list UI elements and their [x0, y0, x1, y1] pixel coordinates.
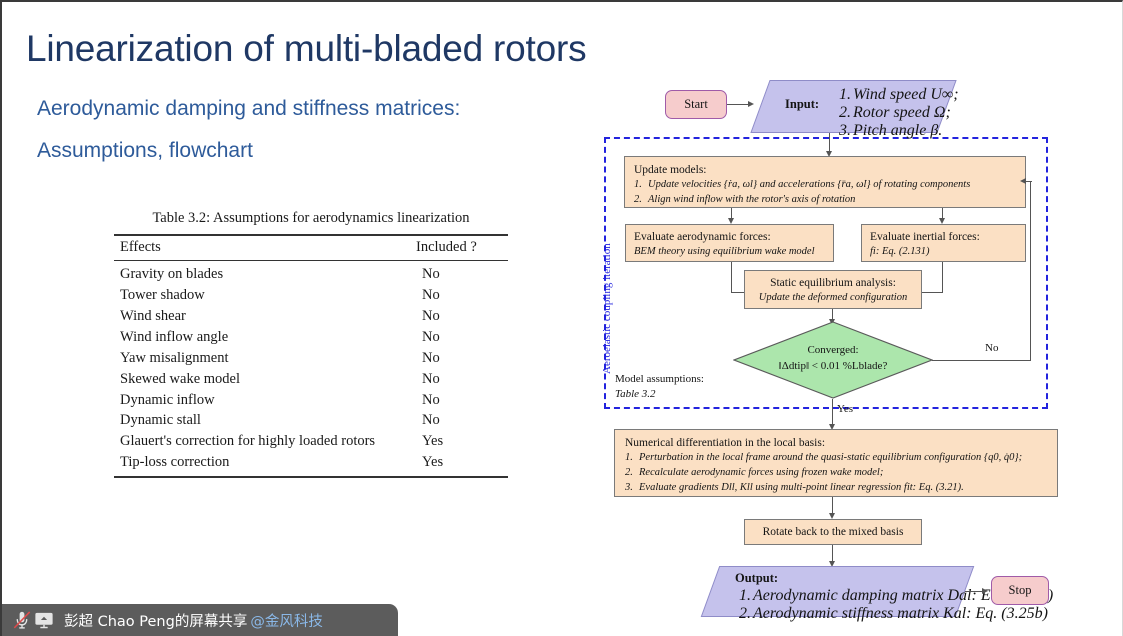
cell-effect: Skewed wake model [114, 368, 416, 389]
input-node[interactable]: Input: 1.Wind speed U∞; 2.Rotor speed Ω;… [750, 80, 956, 133]
edge-label-yes: Yes [837, 403, 853, 415]
edge-no-vertical [1030, 181, 1031, 361]
output-item-text: Aerodynamic stiffness matrix Kal: Eq. (3… [753, 605, 1048, 622]
cell-included: No [416, 410, 508, 431]
cell-effect: Yaw misalignment [114, 348, 416, 369]
presentation-slide: Linearization of multi-bladed rotors Aer… [0, 0, 1123, 636]
list-item: 1.Update velocities {ṙa, ωl} and acceler… [634, 178, 1016, 193]
table-head: Effects Included ? [114, 235, 508, 261]
edge-start-to-input [727, 104, 748, 105]
edge-no-joint [1031, 181, 1032, 182]
edge-inertial-to-static-v [942, 262, 943, 293]
assumptions-table-block: Table 3.2: Assumptions for aerodynamics … [114, 210, 508, 478]
table-row: Dynamic stallNo [114, 410, 508, 431]
list-item: 1.Wind speed U∞; [839, 86, 959, 104]
inertial-forces-heading: Evaluate inertial forces: [870, 229, 1017, 245]
edge-no-h-bottom [932, 360, 1031, 361]
edge-inertial-to-static-h [921, 292, 943, 293]
update-models-item-text: Align wind inflow with the rotor's axis … [648, 194, 855, 205]
table-row: Wind inflow angleNo [114, 327, 508, 348]
cell-included: No [416, 306, 508, 327]
static-equilibrium-heading: Static equilibrium analysis: [753, 275, 913, 291]
cell-effect: Wind shear [114, 306, 416, 327]
inertial-forces-sub: fi: Eq. (2.131) [870, 245, 1017, 260]
table-row: Skewed wake modelNo [114, 368, 508, 389]
edge-input-to-update [829, 133, 830, 153]
cell-included: Yes [416, 452, 508, 477]
presenter-affiliation: @金风科技 [250, 610, 323, 631]
table-header-row: Effects Included ? [114, 235, 508, 261]
aeroelastic-flowchart: Aeroelastic coupling iteration Start Inp… [587, 72, 1123, 622]
presenter-name: 彭超 Chao Peng的屏幕共享 [64, 610, 247, 631]
numerical-differentiation-heading: Numerical differentiation in the local b… [625, 435, 1047, 451]
list-item: 1.Perturbation in the local frame around… [625, 451, 1047, 466]
update-models-item-text: Update velocities {ṙa, ωl} and accelerat… [648, 179, 970, 190]
list-item: 3.Evaluate gradients Dll, Kll using mult… [625, 481, 1047, 496]
stop-label: Stop [1009, 583, 1032, 598]
page-title: Linearization of multi-bladed rotors [26, 28, 586, 70]
cell-included: No [416, 261, 508, 285]
update-models-list: 1.Update velocities {ṙa, ωl} and acceler… [634, 178, 1016, 208]
table-row: Wind shearNo [114, 306, 508, 327]
arrowhead-right-icon [748, 101, 754, 107]
arrowhead-left-icon [1020, 178, 1026, 184]
table-row: Glauert's correction for highly loaded r… [114, 431, 508, 452]
edge-no-into-update [1026, 181, 1031, 182]
list-item: 2.Align wind inflow with the rotor's axi… [634, 193, 1016, 208]
numerical-differentiation-node[interactable]: Numerical differentiation in the local b… [614, 429, 1058, 497]
assumptions-table: Effects Included ? Gravity on bladesNo T… [114, 234, 508, 478]
edge-yes-vertical [832, 399, 833, 426]
loop-region-label: Aeroelastic coupling iteration [601, 243, 613, 374]
model-assumptions-note: Model assumptions: Table 3.2 [615, 372, 704, 403]
screen-share-icon[interactable] [33, 609, 55, 631]
input-item-text: Pitch angle β. [853, 122, 942, 139]
list-item: 2.Aerodynamic stiffness matrix Kal: Eq. … [739, 605, 1053, 623]
start-node[interactable]: Start [665, 90, 727, 119]
list-item: 2.Rotor speed Ω; [839, 104, 959, 122]
arrowhead-right-icon [982, 588, 988, 594]
aerodynamic-forces-heading: Evaluate aerodynamic forces: [634, 229, 825, 245]
subtitle-line-2: Assumptions, flowchart [37, 139, 253, 163]
numerical-differentiation-list: 1.Perturbation in the local frame around… [625, 451, 1047, 496]
aerodynamic-forces-sub: BEM theory using equilibrium wake model [634, 245, 825, 260]
numdiff-item-text: Evaluate gradients Dll, Kll using multi-… [639, 482, 964, 493]
convergence-decision-node[interactable]: Converged: ‖Δdtip‖ < 0.01 %Lblade? [733, 321, 933, 399]
cell-effect: Glauert's correction for highly loaded r… [114, 431, 416, 452]
numdiff-item-text: Recalculate aerodynamic forces using fro… [639, 467, 883, 478]
update-models-heading: Update models: [634, 162, 1016, 178]
list-item: 3.Pitch angle β. [839, 122, 959, 140]
aerodynamic-forces-node[interactable]: Evaluate aerodynamic forces: BEM theory … [625, 224, 834, 262]
screen-share-status-bar: 彭超 Chao Peng的屏幕共享 @金风科技 [2, 604, 398, 636]
list-item: 2.Recalculate aerodynamic forces using f… [625, 466, 1047, 481]
edge-aero-to-static-v [731, 262, 732, 293]
cell-included: No [416, 285, 508, 306]
table-row: Gravity on bladesNo [114, 261, 508, 285]
table-row: Dynamic inflowNo [114, 389, 508, 410]
cell-included: No [416, 368, 508, 389]
numdiff-item-text: Perturbation in the local frame around t… [639, 452, 1022, 463]
table-body: Gravity on bladesNo Tower shadowNo Wind … [114, 261, 508, 477]
column-header-effects: Effects [114, 235, 416, 261]
cell-effect: Tip-loss correction [114, 452, 416, 477]
subtitle-line-1: Aerodynamic damping and stiffness matric… [37, 97, 460, 121]
edge-label-no: No [985, 342, 998, 354]
table-row: Tower shadowNo [114, 285, 508, 306]
static-equilibrium-node[interactable]: Static equilibrium analysis: Update the … [744, 270, 922, 309]
cell-included: No [416, 389, 508, 410]
edge-output-to-stop [965, 591, 983, 592]
input-label: Input: [785, 97, 819, 112]
static-equilibrium-sub: Update the deformed configuration [753, 291, 913, 306]
output-label: Output: [735, 571, 778, 586]
cell-effect: Dynamic stall [114, 410, 416, 431]
inertial-forces-node[interactable]: Evaluate inertial forces: fi: Eq. (2.131… [861, 224, 1026, 262]
cell-effect: Tower shadow [114, 285, 416, 306]
stop-node[interactable]: Stop [991, 576, 1049, 605]
cell-included: No [416, 348, 508, 369]
cell-effect: Gravity on blades [114, 261, 416, 285]
table-row: Yaw misalignmentNo [114, 348, 508, 369]
input-item-list: 1.Wind speed U∞; 2.Rotor speed Ω; 3.Pitc… [839, 86, 959, 140]
rotate-back-label: Rotate back to the mixed basis [763, 524, 904, 540]
decision-line-1: Converged: [733, 343, 933, 359]
microphone-muted-icon[interactable] [11, 609, 33, 631]
update-models-node[interactable]: Update models: 1.Update velocities {ṙa, … [624, 156, 1026, 208]
decision-line-2: ‖Δdtip‖ < 0.01 %Lblade? [733, 359, 933, 375]
output-node[interactable]: Output: 1.Aerodynamic damping matrix Dal… [701, 566, 975, 617]
input-item-text: Rotor speed Ω; [853, 104, 951, 121]
cell-effect: Wind inflow angle [114, 327, 416, 348]
cell-included: No [416, 327, 508, 348]
cell-effect: Dynamic inflow [114, 389, 416, 410]
table-caption: Table 3.2: Assumptions for aerodynamics … [114, 210, 508, 227]
model-assumptions-line-2: Table 3.2 [615, 387, 704, 402]
rotate-back-node[interactable]: Rotate back to the mixed basis [744, 519, 922, 545]
cell-included: Yes [416, 431, 508, 452]
column-header-included: Included ? [416, 235, 508, 261]
input-item-text: Wind speed U∞; [853, 86, 959, 103]
model-assumptions-line-1: Model assumptions: [615, 372, 704, 387]
start-label: Start [684, 97, 708, 112]
table-row: Tip-loss correctionYes [114, 452, 508, 477]
